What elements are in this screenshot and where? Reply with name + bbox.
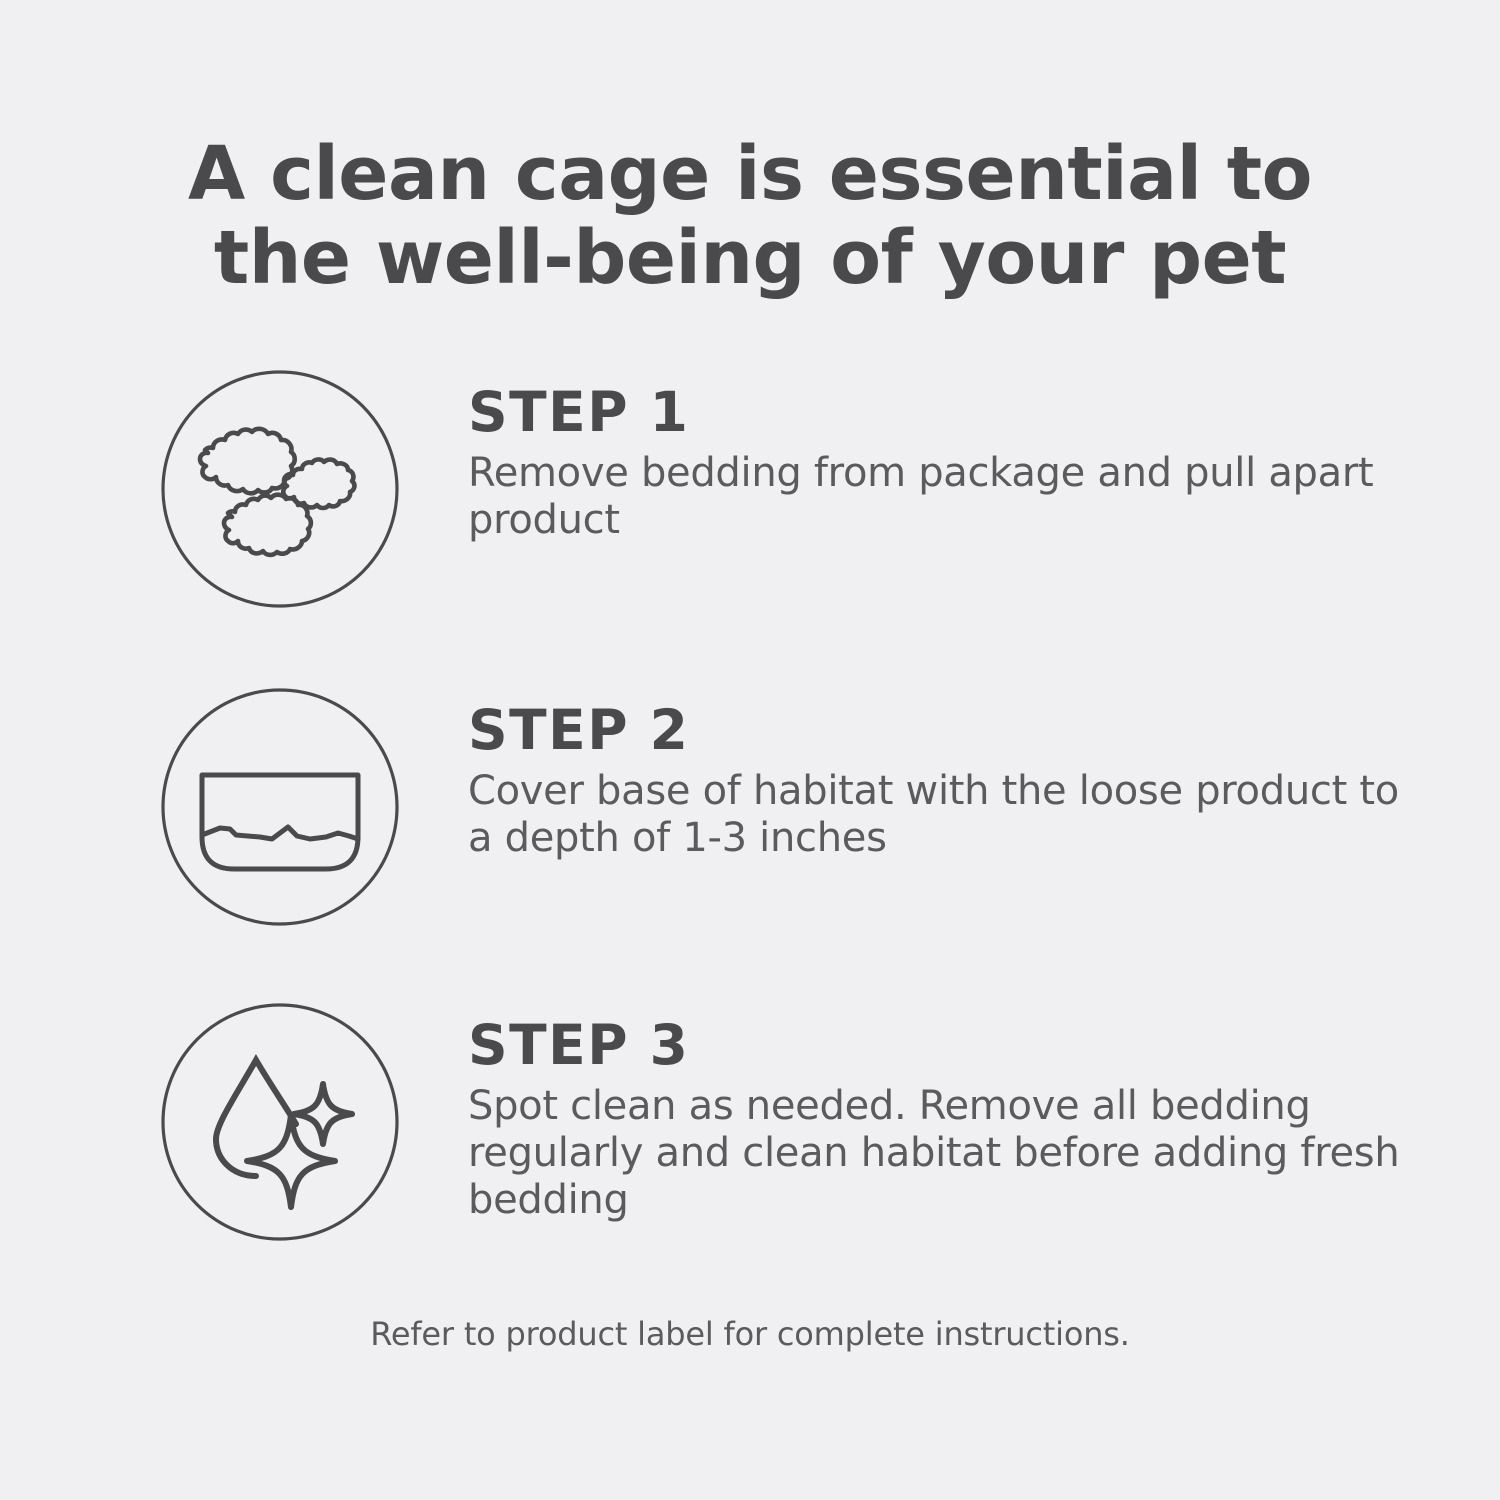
step-2-label: STEP 2 [468,700,1500,760]
step-1-text: STEP 1 Remove bedding from package and p… [400,356,1500,544]
step-item-2: STEP 2 Cover base of habitat with the lo… [0,674,1500,989]
footer-note: Refer to product label for complete inst… [370,1315,1129,1353]
water-droplet-sparkle-icon [160,1002,400,1242]
step-item-1: STEP 1 Remove bedding from package and p… [0,356,1500,674]
step-2-description: Cover base of habitat with the loose pro… [468,768,1418,862]
step-2-text: STEP 2 Cover base of habitat with the lo… [400,674,1500,862]
step-3-description: Spot clean as needed. Remove all bedding… [468,1083,1418,1224]
step-item-3: STEP 3 Spot clean as needed. Remove all … [0,989,1500,1289]
page-title-line-1: A clean cage is essential to [0,132,1500,216]
step-3-label: STEP 3 [468,1015,1500,1075]
step-1-label: STEP 1 [468,382,1500,442]
step-3-text: STEP 3 Spot clean as needed. Remove all … [400,989,1500,1224]
habitat-tank-bedding-icon [160,687,400,927]
clouds-bedding-icon [160,369,400,609]
step-1-description: Remove bedding from package and pull apa… [468,450,1418,544]
page-title-line-2: the well-being of your pet [0,216,1500,300]
footer: Refer to product label for complete inst… [0,1315,1500,1353]
instructions-page: A clean cage is essential to the well-be… [0,0,1500,1500]
steps-list: STEP 1 Remove bedding from package and p… [0,356,1500,1289]
page-title: A clean cage is essential to the well-be… [0,132,1500,300]
